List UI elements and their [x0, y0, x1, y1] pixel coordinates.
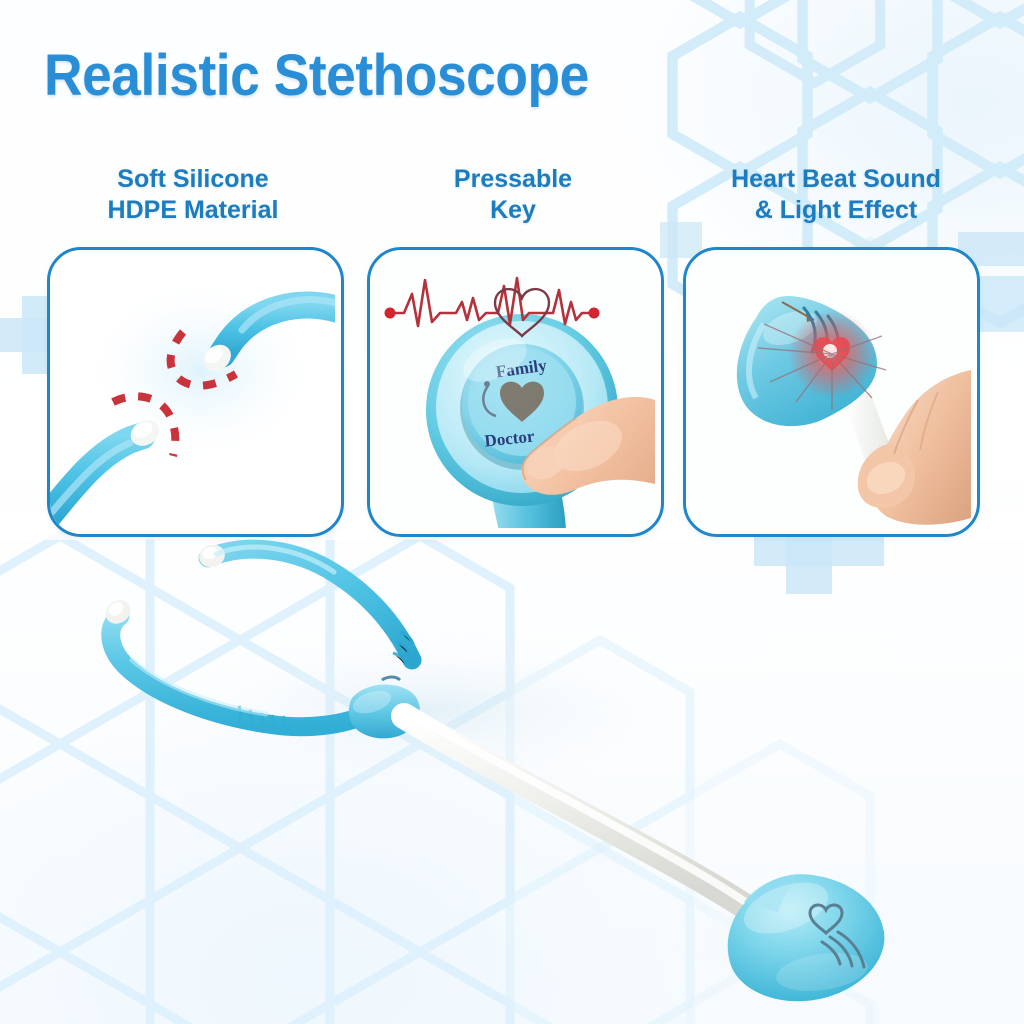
page-title: Realistic Stethoscope: [44, 44, 909, 108]
silicone-tube-illustration: [50, 250, 335, 528]
panel-soft-silicone: [47, 247, 344, 537]
decorative-cross-panel2-top: [660, 222, 702, 258]
feature-caption-soft-silicone: Soft Silicone HDPE Material: [48, 164, 338, 226]
ecg-dot-right: [589, 308, 600, 319]
pressable-key-illustration: Family Doctor: [370, 250, 655, 528]
feature-caption-pressable-key: Pressable Key: [368, 164, 658, 226]
decorative-cross-left-arm: [0, 318, 54, 352]
sound-light-illustration: [686, 250, 971, 528]
panel-pressable-key: Family Doctor: [367, 247, 664, 537]
feature-caption-heart-beat-sound-light: Heart Beat Sound & Light Effect: [686, 164, 986, 226]
ecg-dot-left: [385, 308, 396, 319]
panel-heart-beat-sound-light: [683, 247, 980, 537]
infographic-canvas: Realistic Stethoscope Soft Silicone HDPE…: [0, 0, 1024, 1024]
stethoscope-product-image: [0, 520, 1024, 1024]
